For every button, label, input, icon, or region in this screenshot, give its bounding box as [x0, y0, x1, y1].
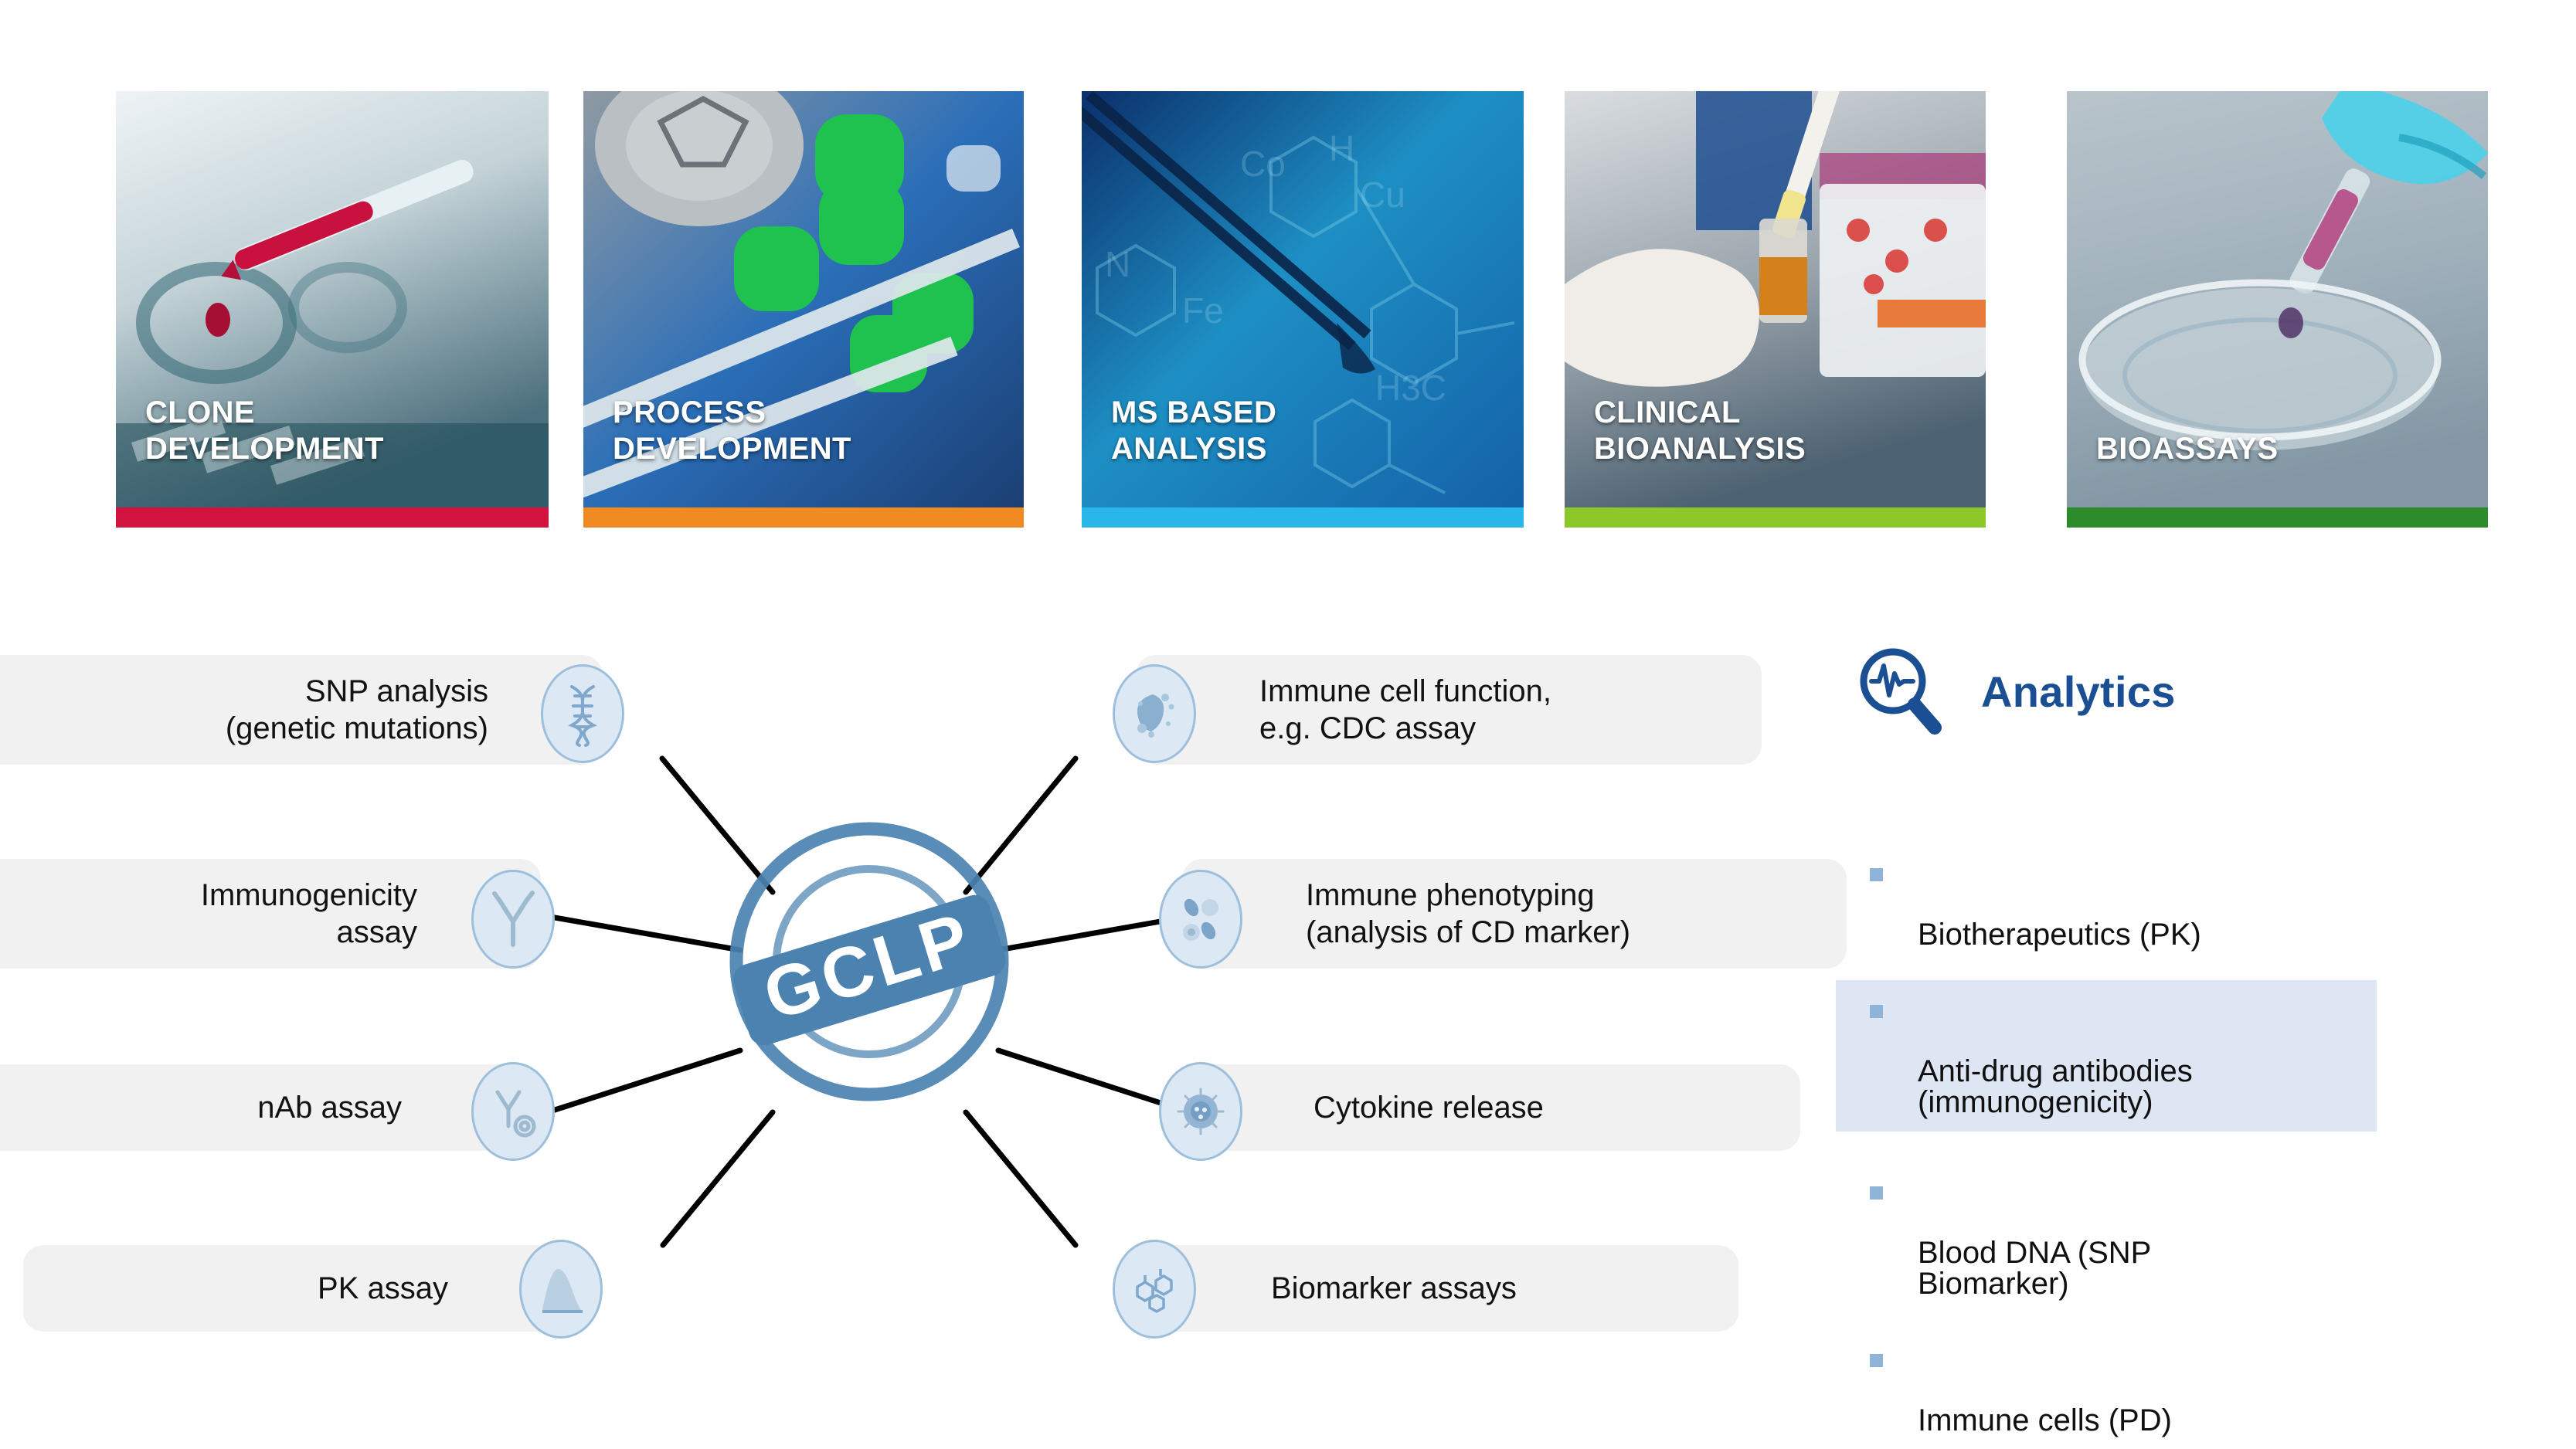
- cytokine-cell-icon: [1159, 1062, 1242, 1161]
- list-item-label: Blood DNA (SNP Biomarker): [1918, 1236, 2151, 1301]
- card-caption: CLINICAL BIOANALYSIS: [1594, 395, 1806, 467]
- lysed-cell-icon: [1113, 664, 1196, 763]
- node-label: Biomarker assays: [1271, 1270, 1517, 1307]
- svg-text:H: H: [1329, 128, 1354, 168]
- antibody-icon: [471, 870, 555, 969]
- list-item[interactable]: Biotherapeutics (PK): [1854, 857, 2511, 950]
- card-caption: MS BASED ANALYSIS: [1111, 395, 1276, 467]
- analytics-list: Biotherapeutics (PK) Anti-drug antibodie…: [1854, 857, 2511, 1449]
- cell-cluster-icon: [1159, 870, 1242, 969]
- card-process-development[interactable]: PROCESS DEVELOPMENT: [583, 91, 1024, 528]
- list-item[interactable]: Immune cells (PD): [1854, 1343, 2511, 1436]
- list-item[interactable]: Anti-drug antibodies (immunogenicity): [1836, 980, 2377, 1132]
- molecule-icon: [1113, 1240, 1196, 1339]
- card-accent-bar: [583, 507, 1024, 528]
- card-accent-bar: [2067, 507, 2488, 528]
- node-label: Cytokine release: [1313, 1089, 1544, 1126]
- svg-text:Fe: Fe: [1182, 290, 1224, 331]
- analytics-header: Analytics: [1854, 641, 2511, 741]
- node-label: Immunogenicity assay: [201, 877, 417, 951]
- node-label: SNP analysis (genetic mutations): [226, 673, 488, 747]
- list-item-label: Biotherapeutics (PK): [1918, 918, 2201, 952]
- card-ms-based-analysis[interactable]: CoH CuN FeH3C MS BASED ANALYSIS: [1082, 91, 1524, 528]
- card-accent-bar: [1082, 507, 1524, 528]
- gclp-stamp: GCLP: [719, 811, 1020, 1112]
- card-caption: CLONE DEVELOPMENT: [145, 395, 384, 467]
- card-clone-development[interactable]: CLONE DEVELOPMENT: [116, 91, 549, 528]
- node-nab-assay[interactable]: nAb assay: [0, 1064, 533, 1151]
- analytics-magnifier-pulse-icon: [1854, 644, 1946, 738]
- bullet-icon: [1870, 1186, 1883, 1200]
- analytics-title: Analytics: [1981, 667, 2176, 717]
- node-cytokine-release[interactable]: Cytokine release: [1182, 1064, 1800, 1151]
- bullet-icon: [1870, 1005, 1883, 1018]
- node-pk-assay[interactable]: PK assay: [23, 1245, 579, 1332]
- svg-text:Co: Co: [1240, 144, 1286, 184]
- antibody-cell-icon: [471, 1062, 555, 1161]
- node-snp-analysis[interactable]: SNP analysis (genetic mutations): [0, 655, 603, 765]
- card-caption: BIOASSAYS: [2096, 431, 2279, 467]
- node-immune-cell-function[interactable]: Immune cell function, e.g. CDC assay: [1136, 655, 1762, 765]
- node-biomarker-assays[interactable]: Biomarker assays: [1136, 1245, 1738, 1332]
- svg-text:Cu: Cu: [1360, 175, 1405, 215]
- node-immune-phenotyping[interactable]: Immune phenotyping (analysis of CD marke…: [1182, 859, 1847, 969]
- card-clinical-bioanalysis[interactable]: CLINICAL BIOANALYSIS: [1565, 91, 1986, 528]
- node-label: Immune phenotyping (analysis of CD marke…: [1306, 877, 1630, 951]
- dna-icon: [541, 664, 624, 763]
- analytics-panel: Analytics Biotherapeutics (PK) Anti-drug…: [1854, 641, 2511, 1449]
- list-item-label: Immune cells (PD): [1918, 1403, 2172, 1437]
- list-item-label: Anti-drug antibodies (immunogenicity): [1918, 1054, 2193, 1119]
- node-label: Immune cell function, e.g. CDC assay: [1259, 673, 1551, 747]
- pk-curve-icon: [519, 1240, 603, 1339]
- node-label: PK assay: [318, 1270, 448, 1307]
- card-accent-bar: [1565, 507, 1986, 528]
- list-item[interactable]: Blood DNA (SNP Biomarker): [1854, 1176, 2511, 1299]
- node-label: nAb assay: [257, 1089, 402, 1126]
- gclp-hub-diagram: GCLP SNP analysis (genetic mutations) Im…: [0, 587, 1746, 1398]
- bullet-icon: [1870, 868, 1883, 881]
- card-caption: PROCESS DEVELOPMENT: [613, 395, 851, 467]
- card-bioassays[interactable]: BIOASSAYS: [2067, 91, 2488, 528]
- slide-canvas: CLONE DEVELOPMENT: [0, 0, 2576, 1449]
- bullet-icon: [1870, 1354, 1883, 1367]
- node-immunogenicity-assay[interactable]: Immunogenicity assay: [0, 859, 541, 969]
- card-accent-bar: [116, 507, 549, 528]
- svg-text:N: N: [1105, 244, 1130, 284]
- svg-text:H3C: H3C: [1375, 368, 1446, 408]
